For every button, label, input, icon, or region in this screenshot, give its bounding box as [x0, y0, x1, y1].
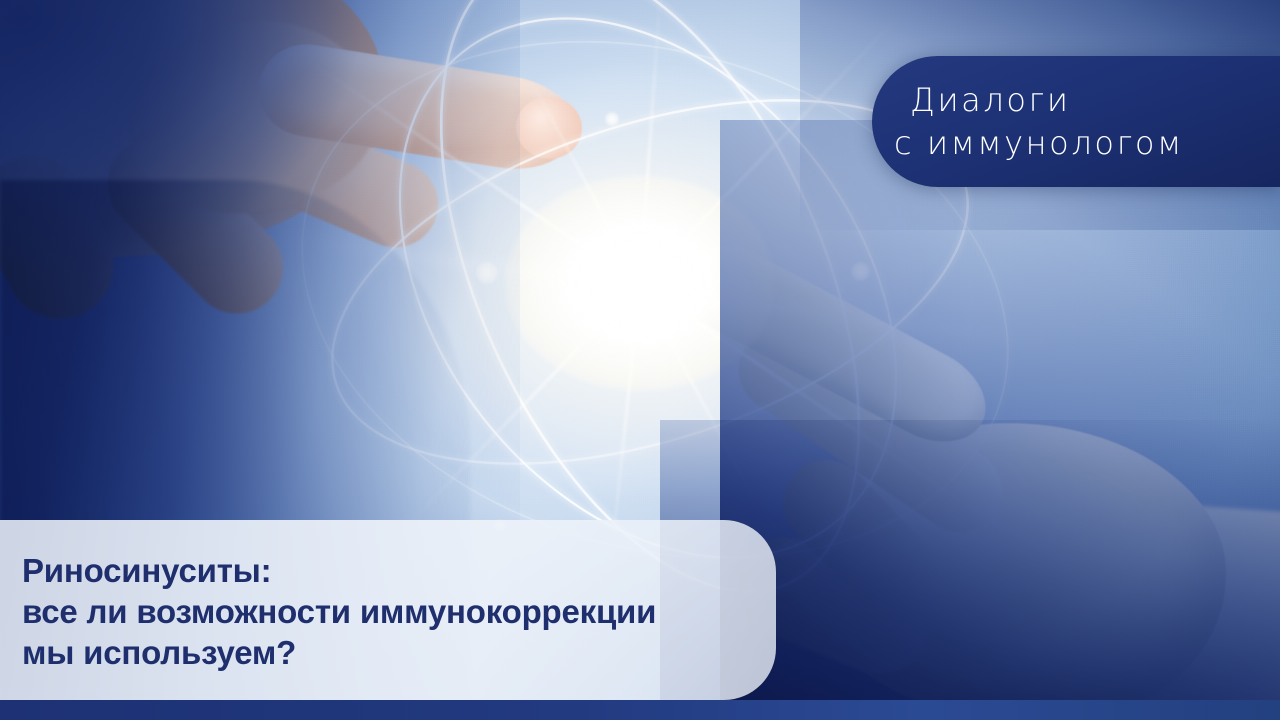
program-title-badge: Диалоги с иммунологом	[872, 56, 1280, 187]
episode-title-caption: Риносинуситы: все ли возможности иммунок…	[0, 520, 776, 700]
episode-title-line-1: Риносинуситы:	[22, 550, 746, 591]
poster-root: Диалоги с иммунологом Риносинуситы: все …	[0, 0, 1280, 720]
program-title-line-1: Диалоги	[894, 79, 1280, 121]
episode-title-line-3: мы используем?	[22, 632, 746, 673]
episode-title-line-2: все ли возможности иммунокоррекции	[22, 591, 746, 632]
bottom-accent-strip	[0, 700, 1280, 720]
program-title-line-2: с иммунологом	[894, 122, 1280, 164]
